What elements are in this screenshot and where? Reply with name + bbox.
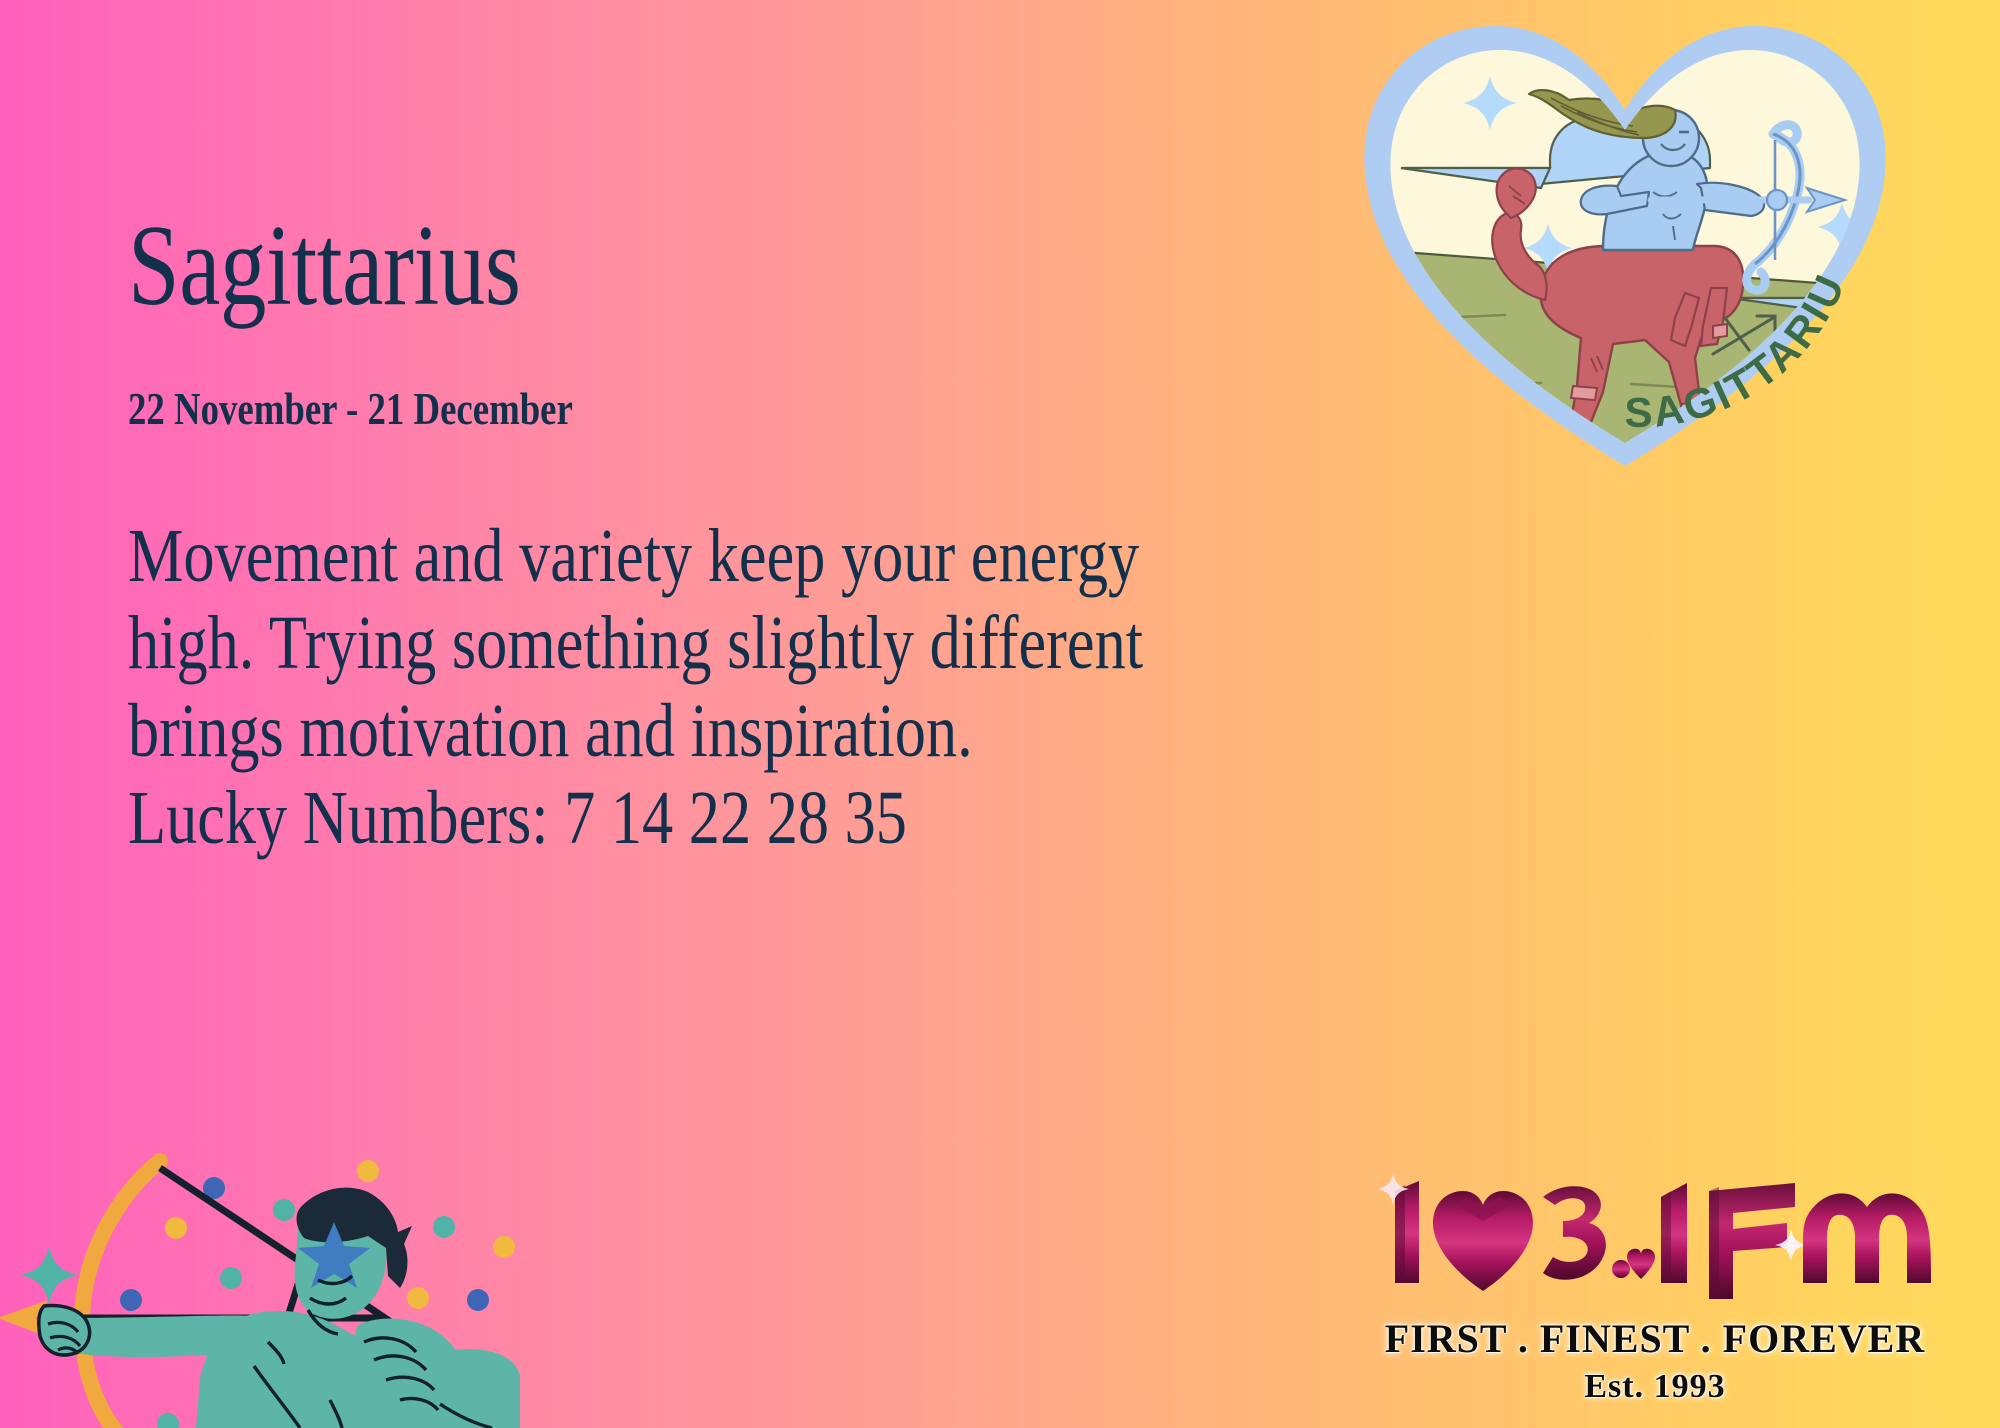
lucky-numbers-line: Lucky Numbers: 7 14 22 28 35: [128, 775, 1407, 862]
horoscope-line: high. Trying something slightly differen…: [128, 600, 1407, 687]
horoscope-text-block: Sagittarius 22 November - 21 December Mo…: [128, 208, 1378, 863]
arrow-nock: [1767, 190, 1787, 210]
horoscope-line: brings motivation and inspiration.: [128, 688, 1407, 775]
sparkle-icon: [20, 1246, 78, 1304]
zodiac-date-range: 22 November - 21 December: [128, 382, 1128, 435]
sagittarius-heart-sticker: SAGITTARIUS: [1345, 0, 1905, 488]
logo-established: Est. 1993: [1375, 1368, 1935, 1406]
radio-station-logo: FIRST . FINEST . FOREVER Est. 1993: [1375, 1163, 1935, 1406]
logo-slogan: FIRST . FINEST . FOREVER: [1375, 1315, 1935, 1362]
logo-heart-icon: [1433, 1191, 1533, 1291]
archer-illustration: [0, 1128, 520, 1428]
logo-letter-f: [1709, 1183, 1795, 1299]
horoscope-line: Movement and variety keep your energy: [128, 513, 1407, 600]
logo-letter-m: [1803, 1193, 1931, 1283]
bow: [82, 1161, 160, 1428]
horoscope-body-text: Movement and variety keep your energy hi…: [128, 513, 1407, 863]
logo-digit-3: [1543, 1186, 1606, 1280]
logo-small-heart-icon: [1627, 1249, 1655, 1279]
page-title: Sagittarius: [128, 208, 1128, 324]
logo-wordmark: [1375, 1163, 1935, 1313]
horoscope-card: Sagittarius 22 November - 21 December Mo…: [0, 0, 2000, 1428]
logo-decimal-dot: [1612, 1260, 1630, 1278]
